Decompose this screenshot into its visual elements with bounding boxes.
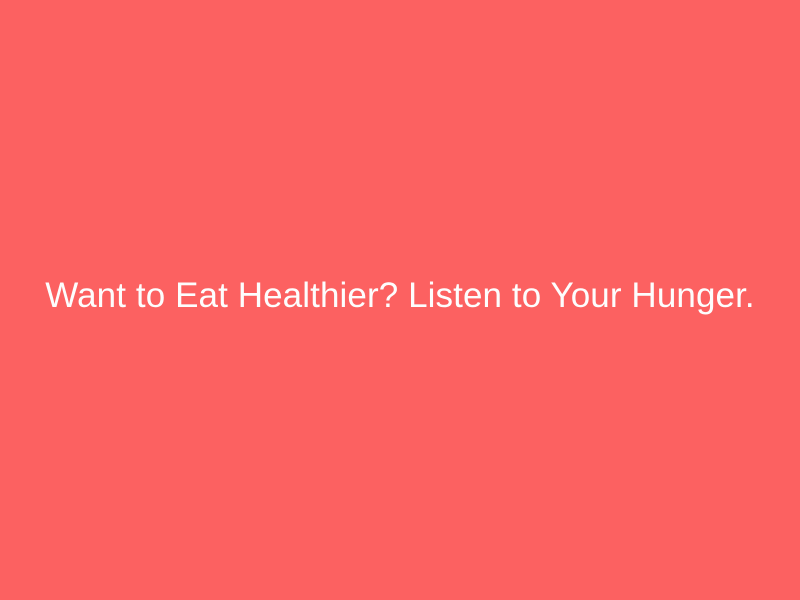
- hero-card: Want to Eat Healthier? Listen to Your Hu…: [0, 0, 800, 600]
- headline-block: Want to Eat Healthier? Listen to Your Hu…: [0, 274, 800, 318]
- hero-headline: Want to Eat Healthier? Listen to Your Hu…: [45, 274, 754, 318]
